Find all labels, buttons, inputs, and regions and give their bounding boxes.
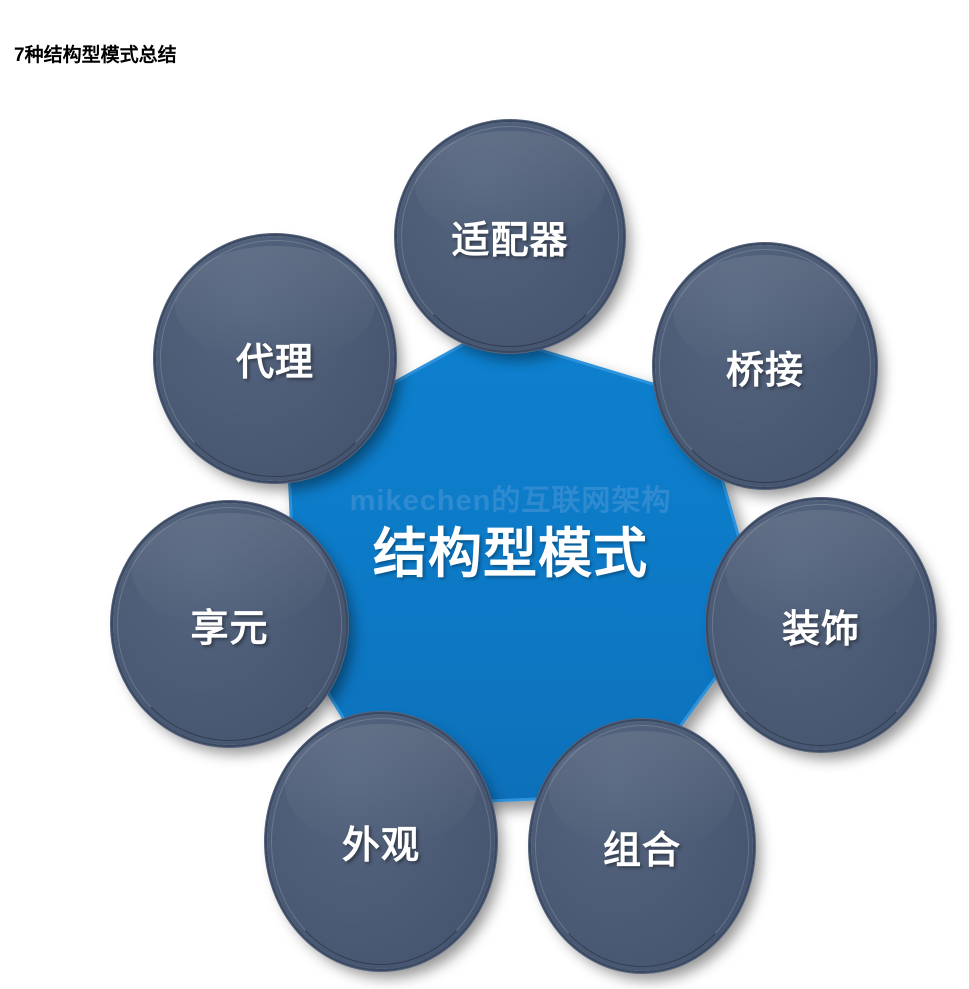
structural-patterns-radial-diagram: mikechen的互联网架构 结构型模式 适配器 桥接 装饰 组合 外观 享元 … [0,95,969,989]
pattern-node-label: 桥接 [726,339,804,394]
pattern-node-label: 外观 [342,814,420,869]
pattern-node-decorator[interactable]: 装饰 [708,500,934,750]
page-title: 7种结构型模式总结 [14,40,177,67]
pattern-node-label: 享元 [190,597,268,652]
pattern-node-label: 组合 [603,819,681,874]
pattern-node-adapter[interactable]: 适配器 [397,122,623,351]
pattern-node-label: 适配器 [451,209,568,264]
pattern-node-flyweight[interactable]: 享元 [113,503,346,745]
pattern-node-bridge[interactable]: 桥接 [655,245,875,487]
pattern-node-label: 装饰 [782,598,860,653]
pattern-node-label: 代理 [236,331,314,386]
pattern-node-proxy[interactable]: 代理 [156,236,394,481]
pattern-node-facade[interactable]: 外观 [267,714,495,969]
pattern-node-composite[interactable]: 组合 [531,721,753,971]
